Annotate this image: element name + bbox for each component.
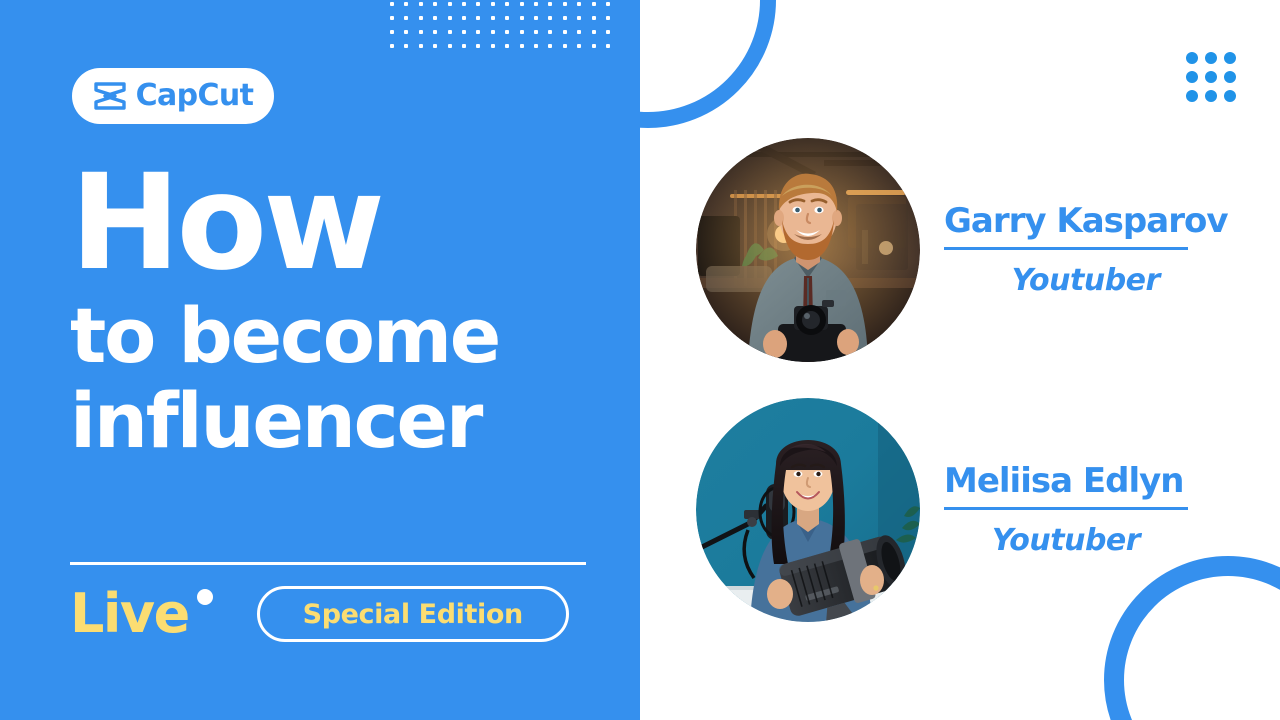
- grid-dot: [534, 2, 538, 6]
- grid-dot: [592, 16, 596, 20]
- grid-dot: [419, 44, 423, 48]
- grid-dot: [520, 30, 524, 34]
- grid-dot: [476, 44, 480, 48]
- speaker-role: Youtuber: [944, 266, 1227, 296]
- grid-dot: [462, 2, 466, 6]
- grid-dot: [534, 16, 538, 20]
- grid-dot: [476, 30, 480, 34]
- headline-line-2: to become: [70, 293, 630, 378]
- grid-dot: [534, 30, 538, 34]
- grid-dot: [390, 16, 394, 20]
- poster-canvas: CapCut How to become influencer Live Spe…: [0, 0, 1280, 720]
- grid-dot: [563, 16, 567, 20]
- grid-dot: [534, 44, 538, 48]
- grid-dot: [606, 16, 610, 20]
- grid-dot: [577, 30, 581, 34]
- live-badge-row: Live Special Edition: [70, 582, 569, 646]
- grid-dot: [548, 16, 552, 20]
- speaker-meta: Garry Kasparov Youtuber: [944, 204, 1227, 296]
- speaker-name-underline: [944, 247, 1188, 250]
- grid-dot: [505, 2, 509, 6]
- grid-dot: [606, 30, 610, 34]
- grid-dot: [520, 16, 524, 20]
- cluster-dot: [1224, 52, 1236, 64]
- capcut-logo-pill[interactable]: CapCut: [72, 68, 274, 124]
- grid-dot: [448, 30, 452, 34]
- speaker-role: Youtuber: [944, 526, 1188, 556]
- grid-dot: [592, 44, 596, 48]
- speaker-name: Meliisa Edlyn: [944, 464, 1188, 500]
- grid-dot: [491, 44, 495, 48]
- grid-dot: [592, 2, 596, 6]
- grid-dot: [505, 16, 509, 20]
- grid-dot: [491, 2, 495, 6]
- grid-dot: [577, 44, 581, 48]
- capcut-hourglass-icon: [93, 81, 127, 111]
- grid-dot: [448, 2, 452, 6]
- grid-dot: [462, 16, 466, 20]
- grid-dot: [505, 30, 509, 34]
- grid-dot: [433, 16, 437, 20]
- cluster-dot: [1186, 90, 1198, 102]
- grid-dot: [404, 30, 408, 34]
- headline-line-1: How: [70, 160, 630, 287]
- headline-block: How to become influencer: [70, 160, 630, 463]
- live-dot-icon: [197, 589, 213, 605]
- headline-line-3: influencer: [70, 378, 630, 463]
- grid-dot: [404, 16, 408, 20]
- grid-dot: [491, 16, 495, 20]
- special-edition-label: Special Edition: [303, 601, 523, 628]
- grid-dot: [433, 44, 437, 48]
- headline-divider: [70, 562, 586, 565]
- grid-dot: [390, 44, 394, 48]
- dot-cluster-decoration: [1186, 52, 1236, 102]
- grid-dot: [548, 30, 552, 34]
- left-blue-panel: CapCut How to become influencer Live Spe…: [0, 0, 640, 720]
- grid-dot: [520, 44, 524, 48]
- grid-dot: [419, 2, 423, 6]
- live-label: Live: [70, 582, 189, 645]
- cluster-dot: [1186, 52, 1198, 64]
- avatar: [696, 398, 920, 622]
- grid-dot: [462, 30, 466, 34]
- live-label-wrap: Live: [70, 587, 189, 641]
- speaker-meta: Meliisa Edlyn Youtuber: [944, 464, 1188, 556]
- grid-dot: [419, 30, 423, 34]
- grid-dot: [491, 30, 495, 34]
- cluster-dot: [1205, 52, 1217, 64]
- grid-dot: [563, 30, 567, 34]
- special-edition-badge[interactable]: Special Edition: [257, 586, 569, 642]
- grid-dot: [476, 16, 480, 20]
- speaker-card-2[interactable]: Meliisa Edlyn Youtuber: [696, 398, 1188, 622]
- dot-grid-decoration: [390, 2, 614, 58]
- cluster-dot: [1224, 90, 1236, 102]
- grid-dot: [563, 2, 567, 6]
- cluster-dot: [1224, 71, 1236, 83]
- speaker-name: Garry Kasparov: [944, 204, 1227, 240]
- capcut-logo-text: CapCut: [136, 81, 254, 111]
- grid-dot: [606, 44, 610, 48]
- grid-dot: [592, 30, 596, 34]
- cluster-dot: [1186, 71, 1198, 83]
- speaker-name-underline: [944, 507, 1188, 510]
- arc-top-left-decoration: [640, 0, 776, 128]
- grid-dot: [390, 2, 394, 6]
- grid-dot: [606, 2, 610, 6]
- cluster-dot: [1205, 71, 1217, 83]
- grid-dot: [390, 30, 394, 34]
- grid-dot: [433, 30, 437, 34]
- grid-dot: [404, 44, 408, 48]
- cluster-dot: [1205, 90, 1217, 102]
- grid-dot: [448, 16, 452, 20]
- grid-dot: [419, 16, 423, 20]
- grid-dot: [520, 2, 524, 6]
- avatar: [696, 138, 920, 362]
- right-white-panel: Garry Kasparov Youtuber: [640, 0, 1280, 720]
- grid-dot: [577, 2, 581, 6]
- grid-dot: [404, 2, 408, 6]
- grid-dot: [577, 16, 581, 20]
- grid-dot: [448, 44, 452, 48]
- grid-dot: [476, 2, 480, 6]
- grid-dot: [505, 44, 509, 48]
- grid-dot: [462, 44, 466, 48]
- grid-dot: [563, 44, 567, 48]
- grid-dot: [548, 44, 552, 48]
- grid-dot: [548, 2, 552, 6]
- speaker-card-1[interactable]: Garry Kasparov Youtuber: [696, 138, 1227, 362]
- grid-dot: [433, 2, 437, 6]
